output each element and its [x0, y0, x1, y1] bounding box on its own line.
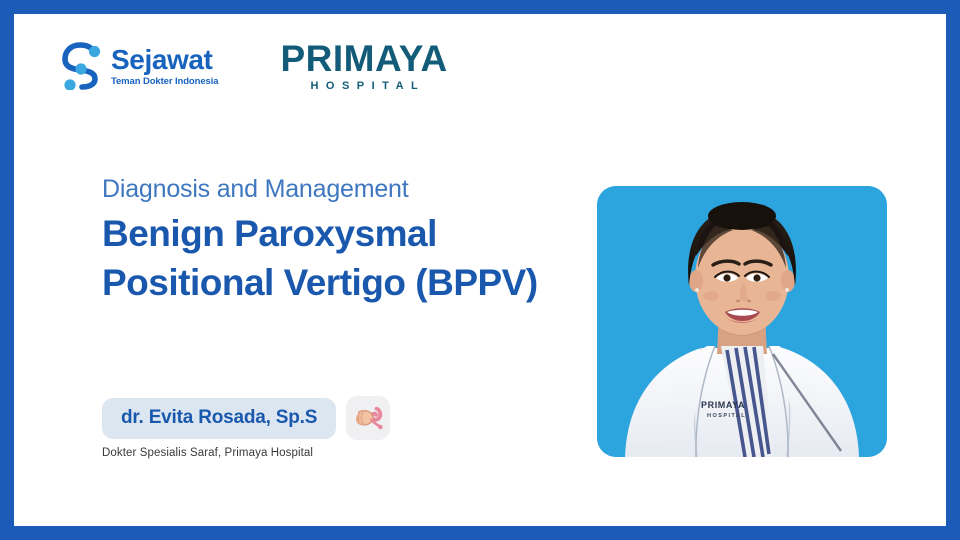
primaya-subtitle: HOSPITAL [303, 81, 425, 92]
inner-ear-anatomy-icon [346, 396, 390, 440]
eyebrow-text: Diagnosis and Management [102, 174, 572, 204]
sejawat-logo: Sejawat Teman Dokter Indonesia [60, 42, 218, 90]
slide-frame: Sejawat Teman Dokter Indonesia PRIMAYA H… [0, 0, 960, 540]
speaker-portrait: PRIMAYA HOSPITAL [597, 186, 887, 457]
speaker-row: dr. Evita Rosada, Sp.S [102, 396, 390, 440]
portrait-illustration: PRIMAYA HOSPITAL [597, 186, 887, 457]
primaya-hospital-logo: PRIMAYA HOSPITAL [280, 40, 447, 92]
sejawat-tagline: Teman Dokter Indonesia [111, 77, 218, 87]
slide-canvas: Sejawat Teman Dokter Indonesia PRIMAYA H… [14, 14, 946, 526]
page-title: Benign Paroxysmal Positional Vertigo (BP… [102, 210, 572, 308]
sejawat-s-network-icon [60, 42, 104, 90]
speaker-caption: Dokter Spesialis Saraf, Primaya Hospital [102, 447, 313, 459]
sejawat-name: Sejawat [111, 46, 212, 74]
coat-badge-primaya: PRIMAYA [701, 400, 745, 410]
sejawat-wordmark: Sejawat Teman Dokter Indonesia [111, 46, 218, 87]
primaya-name: PRIMAYA [280, 40, 447, 77]
logo-bar: Sejawat Teman Dokter Indonesia PRIMAYA H… [60, 40, 448, 92]
inner-ear-glyph [351, 401, 385, 435]
coat-badge-hospital: HOSPITAL [707, 413, 746, 419]
speaker-name-badge: dr. Evita Rosada, Sp.S [102, 398, 336, 439]
title-block: Diagnosis and Management Benign Paroxysm… [102, 174, 572, 308]
